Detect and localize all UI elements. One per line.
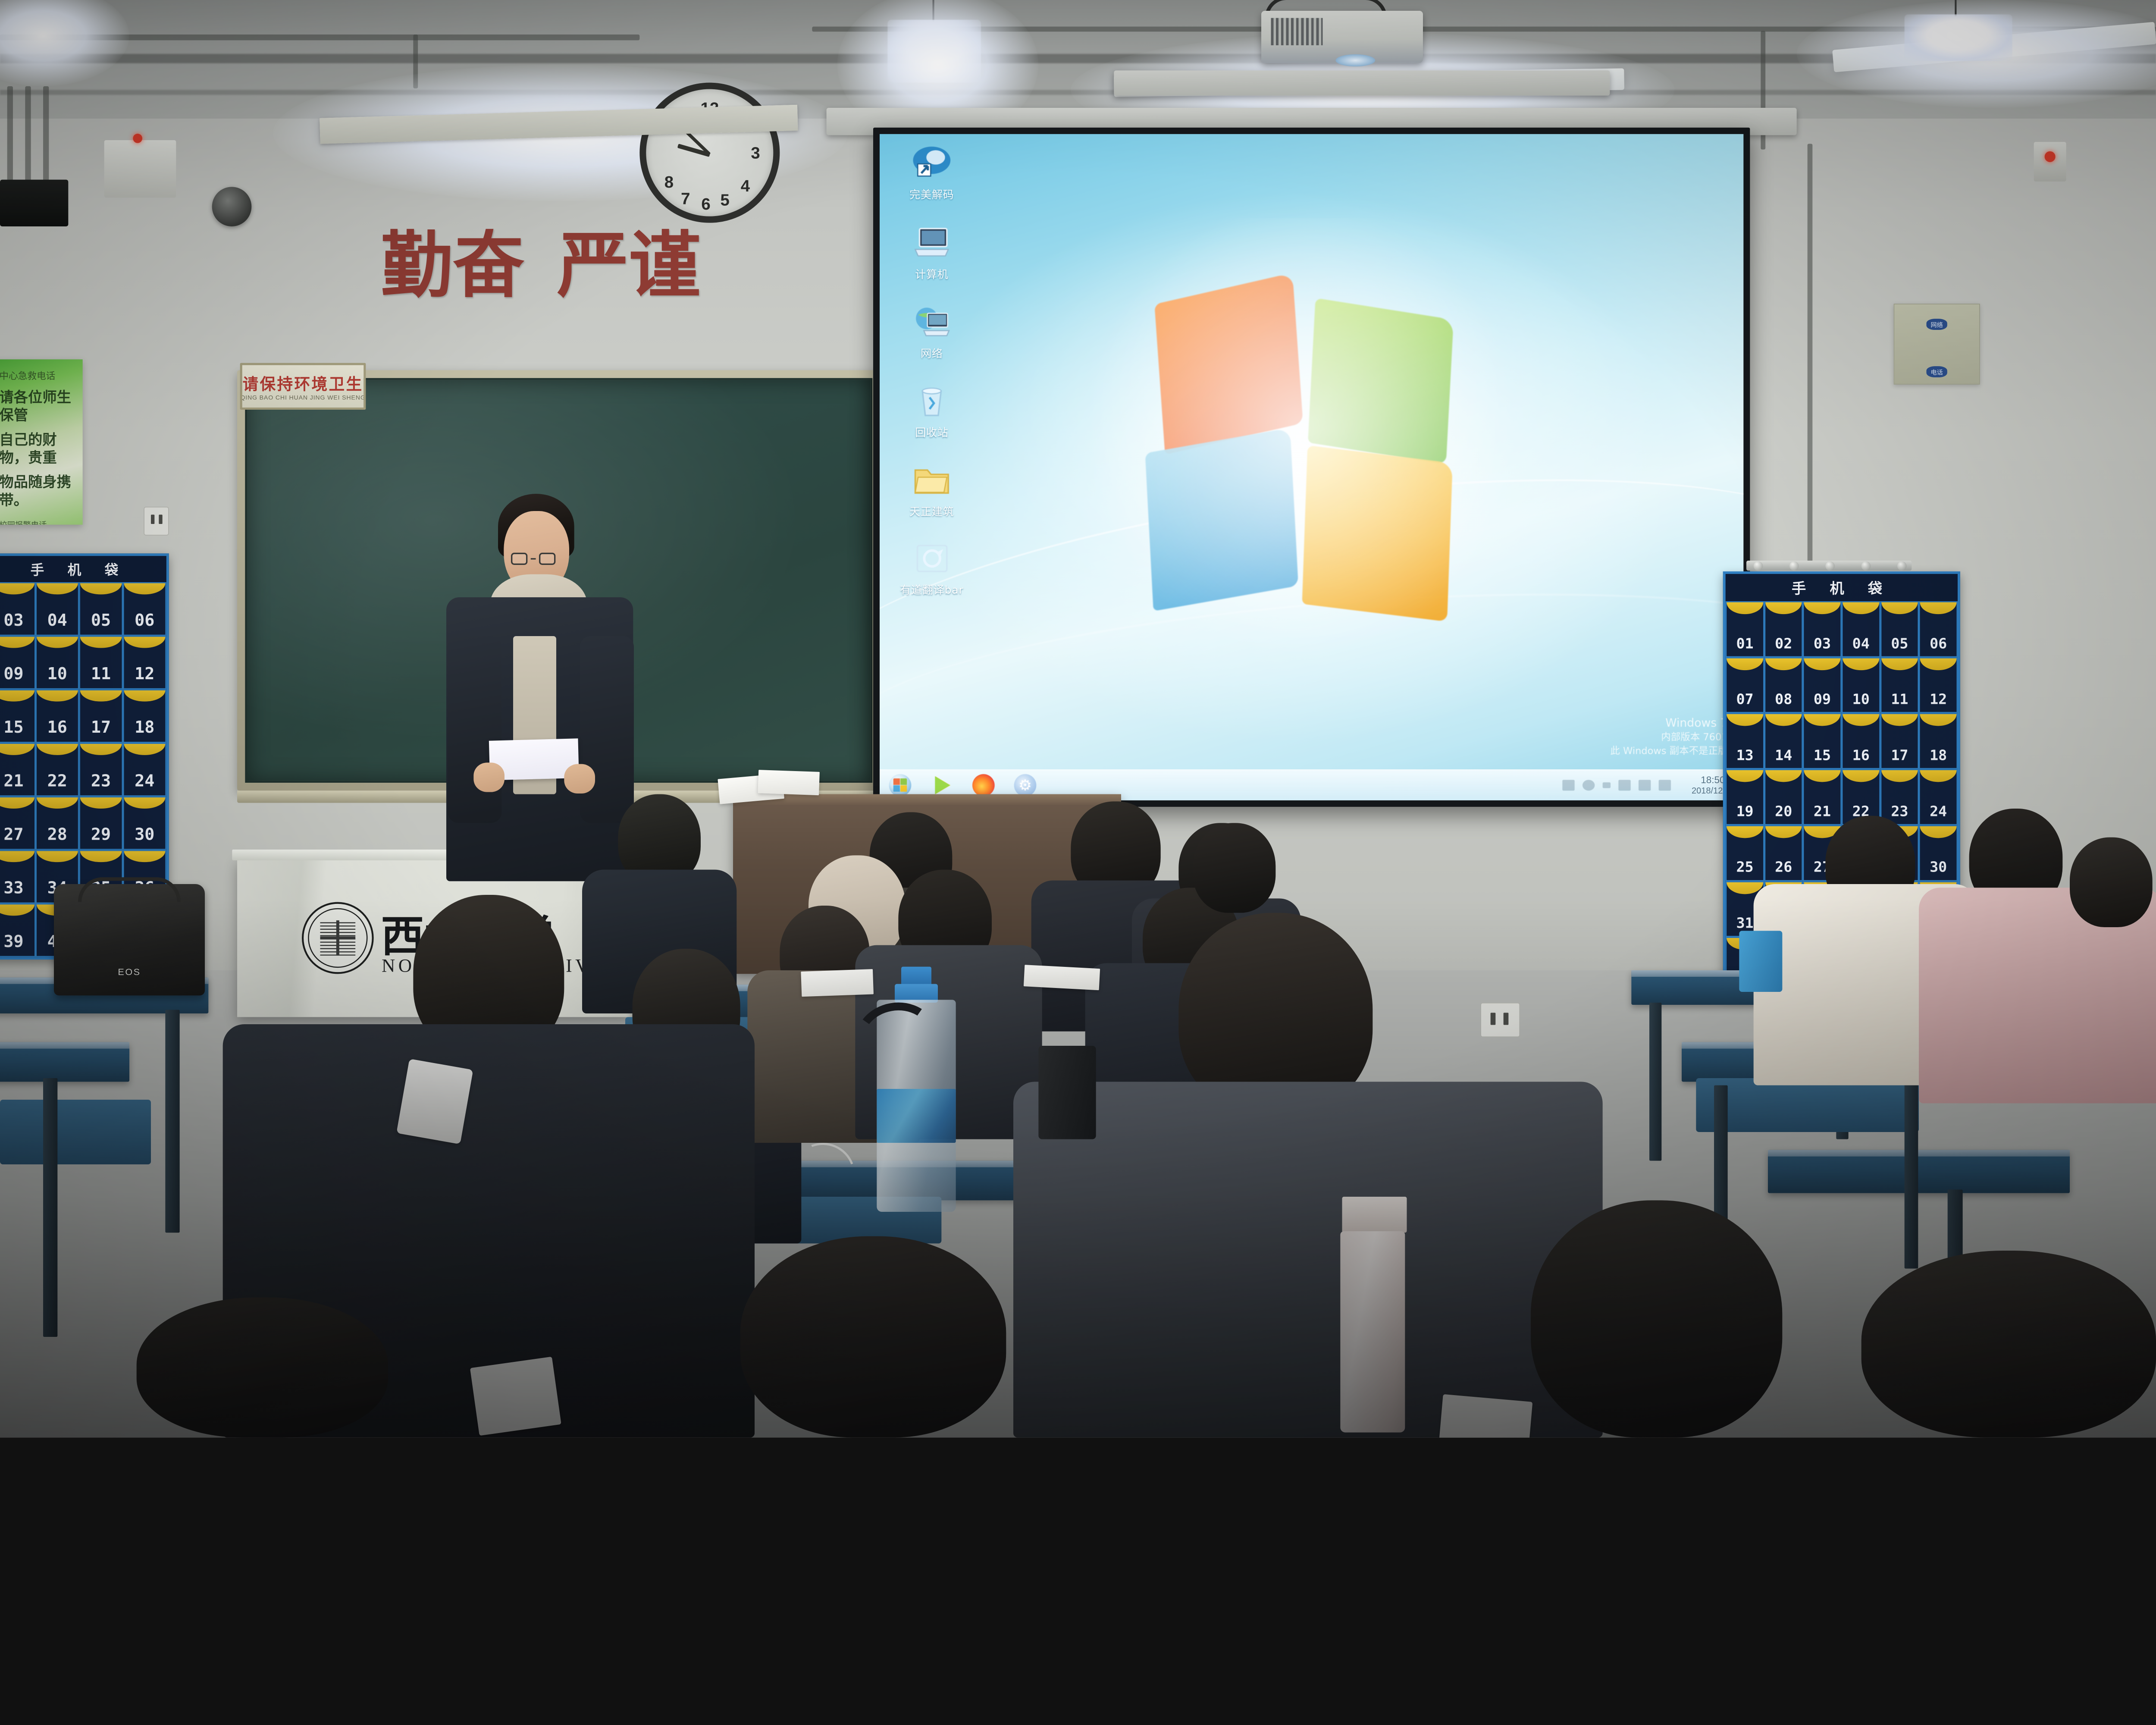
desktop-icon-label: 天正建筑 bbox=[890, 503, 973, 519]
organizer-title-left: 手 机 袋 bbox=[0, 556, 166, 582]
desk-leg bbox=[165, 1010, 179, 1233]
projection-screen: 完美解码 计算机 bbox=[873, 128, 1750, 807]
desk-edge bbox=[0, 1042, 129, 1049]
desk-leg bbox=[1905, 1082, 1918, 1268]
pocket-number: 01 bbox=[1736, 635, 1753, 656]
eyeglasses-icon bbox=[511, 553, 555, 565]
wall-speaker bbox=[212, 187, 252, 226]
phone-pocket[interactable]: 02 bbox=[1764, 601, 1803, 657]
phone-pocket[interactable]: 24 bbox=[123, 743, 166, 797]
phone-pocket[interactable]: 16 bbox=[1842, 713, 1880, 769]
pocket-number: 15 bbox=[3, 717, 23, 742]
watermark-line-3: 此 Windows 副本不是正版 bbox=[1610, 744, 1727, 758]
pocket-number: 04 bbox=[1852, 635, 1870, 656]
pocket-number: 05 bbox=[91, 610, 111, 635]
phone-pocket[interactable]: 17 bbox=[79, 689, 122, 743]
phone-pocket[interactable]: 39 bbox=[0, 903, 35, 957]
pocket-number: 15 bbox=[1814, 747, 1831, 768]
hygiene-sign-chinese: 请保持环境卫生 bbox=[243, 371, 364, 394]
student-desk-empty bbox=[0, 1042, 129, 1082]
desktop-icon-computer[interactable]: 计算机 bbox=[890, 223, 973, 282]
clock-number: 7 bbox=[681, 189, 690, 208]
phone-pocket[interactable]: 29 bbox=[79, 797, 122, 850]
audience-head-foreground bbox=[137, 1297, 388, 1437]
phone-pocket[interactable]: 18 bbox=[1919, 713, 1958, 769]
pocket-number: 12 bbox=[135, 664, 154, 688]
pocket-number: 24 bbox=[1930, 803, 1947, 824]
handout-papers bbox=[801, 969, 874, 997]
rail-screw bbox=[1754, 561, 1763, 571]
thermos-cap bbox=[1342, 1197, 1407, 1233]
clock-number: 8 bbox=[664, 172, 674, 192]
phone-pocket[interactable]: 30 bbox=[1919, 825, 1958, 881]
rail-screw bbox=[1861, 561, 1871, 571]
dark-cup-body bbox=[1038, 1046, 1096, 1139]
audience-head-foreground bbox=[1531, 1200, 1782, 1437]
pocket-row: 09101112 bbox=[0, 636, 166, 689]
phone-pocket[interactable]: 01 bbox=[1726, 601, 1764, 657]
wall-outlet[interactable] bbox=[144, 507, 169, 536]
folder-icon bbox=[911, 461, 953, 500]
phone-pocket[interactable]: 16 bbox=[35, 689, 79, 743]
pocket-number: 16 bbox=[1852, 747, 1870, 768]
pocket-row: 010203040506 bbox=[1726, 601, 1958, 657]
audience-body-foreground bbox=[1013, 1082, 1603, 1437]
desktop-icon-label: 完美解码 bbox=[890, 186, 973, 202]
phone-pocket[interactable]: 09 bbox=[1803, 657, 1842, 713]
cup-body bbox=[1739, 931, 1782, 992]
phone-pocket[interactable]: 15 bbox=[0, 689, 35, 743]
show-hidden-icon[interactable] bbox=[1602, 782, 1610, 788]
phone-pocket[interactable]: 11 bbox=[79, 636, 122, 689]
pocket-number: 06 bbox=[135, 610, 154, 635]
phone-pocket[interactable]: 23 bbox=[79, 743, 122, 797]
clock-number: 4 bbox=[741, 176, 750, 195]
pocket-number: 22 bbox=[47, 771, 67, 796]
organizer-title-right: 手 机 袋 bbox=[1726, 574, 1958, 601]
projector-vent bbox=[1271, 18, 1323, 45]
phone-pocket[interactable]: 12 bbox=[1919, 657, 1958, 713]
network-icon bbox=[911, 302, 953, 342]
start-orb-icon[interactable] bbox=[889, 774, 912, 797]
ceiling-projector bbox=[1261, 11, 1423, 63]
volume-icon[interactable] bbox=[1658, 780, 1670, 790]
phone-pocket[interactable]: 26 bbox=[1764, 825, 1803, 881]
pocket-number: 29 bbox=[91, 825, 111, 849]
phone-pocket[interactable]: 18 bbox=[123, 689, 166, 743]
pocket-number: 09 bbox=[1814, 691, 1831, 712]
handout-papers bbox=[758, 770, 819, 795]
reflective-armband bbox=[396, 1059, 473, 1144]
projection-screen-roller bbox=[1114, 70, 1610, 95]
pocket-number: 12 bbox=[1930, 691, 1947, 712]
classroom-scene: 12 1 3 4 5 6 7 8 11 勤奋 严谨 中心急救电话 请各位师生保管… bbox=[0, 0, 2156, 1437]
bag-strap bbox=[78, 878, 181, 902]
lamp-hanging-wire bbox=[1955, 0, 1956, 16]
wall-conduit-vertical bbox=[413, 34, 418, 88]
pocket-number: 17 bbox=[1891, 747, 1908, 768]
presenter-arm-right bbox=[580, 636, 634, 823]
handout-papers bbox=[1024, 965, 1100, 990]
projector-lens bbox=[1336, 54, 1376, 66]
wall-clock: 12 1 3 4 5 6 7 8 11 bbox=[639, 83, 780, 223]
pocket-number: 02 bbox=[1775, 635, 1792, 656]
keyboard-ime-icon[interactable] bbox=[1562, 780, 1574, 790]
student-desk bbox=[1768, 1150, 2070, 1193]
glasses-bridge bbox=[531, 558, 536, 559]
firefox-icon[interactable] bbox=[972, 774, 995, 797]
seal-emblem bbox=[320, 920, 355, 956]
wall-conduit-vertical bbox=[1808, 144, 1813, 568]
glasses-lens-right bbox=[539, 553, 555, 565]
dark-cup bbox=[1038, 1046, 1096, 1139]
action-center-icon[interactable] bbox=[1639, 780, 1651, 790]
clock-number: 5 bbox=[721, 190, 730, 210]
poster-line-1: 请各位师生保管 bbox=[0, 389, 76, 424]
presenter-arm-left bbox=[448, 636, 501, 823]
pocket-number: 04 bbox=[47, 610, 67, 635]
phone-pocket[interactable]: 27 bbox=[0, 797, 35, 850]
phone-pocket[interactable]: 09 bbox=[0, 636, 35, 689]
pocket-number: 08 bbox=[1775, 691, 1792, 712]
blue-cup bbox=[1739, 931, 1782, 992]
bottle-label bbox=[877, 1089, 956, 1143]
network-icon[interactable] bbox=[1618, 780, 1630, 790]
bag-logo-label: EOS bbox=[118, 966, 141, 978]
tissue-paper bbox=[470, 1357, 561, 1436]
phone-pocket[interactable]: 20 bbox=[1764, 769, 1803, 825]
pocket-number: 21 bbox=[1814, 803, 1831, 824]
pocket-row: 070809101112 bbox=[1726, 657, 1958, 713]
windows-logo-red-pane bbox=[1154, 273, 1303, 455]
windows-logo-blue-pane bbox=[1145, 428, 1298, 612]
pocket-number: 28 bbox=[47, 825, 67, 849]
pocket-number: 03 bbox=[3, 610, 23, 635]
poster-small-note: 校园报警电话 bbox=[0, 519, 76, 525]
media-player-icon bbox=[911, 144, 953, 183]
desktop-icon-label: 计算机 bbox=[890, 266, 973, 282]
electrical-box bbox=[0, 180, 68, 226]
emergency-button-box[interactable] bbox=[2034, 142, 2066, 182]
phone-pocket[interactable]: 10 bbox=[35, 636, 79, 689]
windows-activation-watermark: Windows 7 内部版本 7601 此 Windows 副本不是正版 bbox=[1610, 715, 1727, 758]
phone-pocket[interactable]: 07 bbox=[1726, 657, 1764, 713]
poster-header: 中心急救电话 bbox=[0, 369, 76, 382]
chair-back bbox=[1696, 1078, 1919, 1132]
rail-screw bbox=[1897, 561, 1907, 571]
audience-head-foreground bbox=[740, 1236, 1006, 1438]
rail-screw bbox=[1789, 561, 1799, 571]
ceiling-conduit bbox=[0, 34, 639, 40]
pocket-number: 06 bbox=[1930, 635, 1947, 656]
pocket-number: 17 bbox=[91, 717, 111, 742]
system-tray[interactable]: 18:50 2018/12/11 bbox=[1562, 775, 1743, 796]
camera-bag: EOS bbox=[54, 884, 205, 995]
desktop-icon-label: 有道翻译bar bbox=[890, 581, 973, 597]
pocket-row: 21222324 bbox=[0, 743, 166, 797]
desk-leg bbox=[1649, 1003, 1661, 1161]
rail-screw bbox=[1825, 561, 1835, 571]
pocket-number: 30 bbox=[1930, 859, 1947, 880]
media-play-icon[interactable] bbox=[931, 774, 953, 797]
phone-pocket[interactable]: 24 bbox=[1919, 769, 1958, 825]
windows-logo-green-pane bbox=[1308, 298, 1454, 464]
pocket-number: 07 bbox=[1736, 691, 1753, 712]
desktop-icon-recycle-bin[interactable]: 回收站 bbox=[890, 381, 973, 439]
pocket-row: 27282930 bbox=[0, 797, 166, 850]
hygiene-sign: 请保持环境卫生 QING BAO CHI HUAN JING WEI SHENG bbox=[240, 363, 366, 410]
phone-pocket[interactable]: 03 bbox=[0, 582, 35, 636]
phone-pocket[interactable]: 33 bbox=[0, 850, 35, 903]
pocket-number: 10 bbox=[1852, 691, 1870, 712]
pocket-number: 18 bbox=[1930, 747, 1947, 768]
clock-number: 3 bbox=[751, 143, 760, 163]
pocket-number: 30 bbox=[135, 825, 154, 849]
desktop-icon-label: 回收站 bbox=[890, 424, 973, 440]
pocket-number: 20 bbox=[1775, 803, 1792, 824]
pocket-number: 24 bbox=[135, 771, 154, 796]
safety-poster: 中心急救电话 请各位师生保管 自己的财物，贵重 物品随身携带。 校园报警电话 8… bbox=[0, 359, 83, 524]
wall-motto: 勤奋 严谨 bbox=[381, 230, 701, 302]
university-seal bbox=[302, 902, 374, 974]
phone-pocket[interactable]: 04 bbox=[1842, 601, 1880, 657]
phone-pocket[interactable]: 15 bbox=[1803, 713, 1842, 769]
phone-pocket[interactable]: 23 bbox=[1880, 769, 1919, 825]
pocket-number: 13 bbox=[1736, 747, 1753, 768]
phone-pocket[interactable]: 06 bbox=[1919, 601, 1958, 657]
phone-pocket[interactable]: 22 bbox=[35, 743, 79, 797]
phone-pocket[interactable]: 08 bbox=[1764, 657, 1803, 713]
alarm-led bbox=[133, 134, 142, 143]
pocket-number: 09 bbox=[3, 664, 23, 688]
taskbar-pinned-area bbox=[880, 774, 1036, 797]
clock-number: 6 bbox=[701, 194, 710, 213]
desk-top-edge bbox=[733, 794, 1121, 805]
phone-pocket[interactable]: 21 bbox=[1803, 769, 1842, 825]
desktop-icon-network[interactable]: 网络 bbox=[890, 302, 973, 361]
emergency-led bbox=[2045, 151, 2056, 162]
phone-pocket[interactable]: 13 bbox=[1726, 713, 1764, 769]
wall-service-panel: 网络 电话 bbox=[1894, 304, 1980, 385]
hanging-lamp bbox=[1905, 14, 2012, 61]
pocket-number: 18 bbox=[135, 717, 154, 742]
glasses-lens-left bbox=[511, 553, 527, 565]
desktop-icon-label: 网络 bbox=[890, 345, 973, 361]
pocket-number: 39 bbox=[3, 931, 23, 956]
windows-desktop[interactable]: 完美解码 计算机 bbox=[880, 134, 1743, 800]
motto-char-2: 严谨 bbox=[557, 230, 701, 302]
presenter-hand-right bbox=[564, 764, 595, 793]
panel-label-network: 网络 bbox=[1927, 319, 1947, 330]
lamp-hanging-wire bbox=[933, 0, 934, 22]
pocket-number: 21 bbox=[3, 771, 23, 796]
phone-pocket[interactable]: 05 bbox=[1880, 601, 1919, 657]
fire-alarm-box bbox=[104, 140, 176, 198]
pocket-number: 23 bbox=[1891, 803, 1908, 824]
desk-edge bbox=[1768, 1150, 2070, 1157]
phone-pocket[interactable]: 04 bbox=[35, 582, 79, 636]
chair-back bbox=[0, 1100, 151, 1164]
pocket-number: 11 bbox=[1891, 691, 1908, 712]
thermos-body bbox=[1340, 1231, 1405, 1433]
panel-label-phone: 电话 bbox=[1927, 366, 1947, 377]
poster-line-2: 自己的财物，贵重 bbox=[0, 431, 76, 467]
desk-leg bbox=[43, 1078, 57, 1337]
recycle-bin-icon bbox=[911, 381, 953, 421]
phone-pocket[interactable]: 05 bbox=[79, 582, 122, 636]
pocket-number: 10 bbox=[47, 664, 67, 688]
tissue-paper bbox=[1439, 1394, 1532, 1438]
windows-logo bbox=[1139, 281, 1484, 627]
phone-pocket[interactable]: 25 bbox=[1726, 825, 1764, 881]
pocket-number: 33 bbox=[3, 878, 23, 903]
hygiene-sign-pinyin: QING BAO CHI HUAN JING WEI SHENG bbox=[240, 394, 365, 401]
pocket-number: 11 bbox=[91, 664, 111, 688]
presenter-hand-left bbox=[473, 762, 505, 792]
desktop-icon-folder[interactable]: 天正建筑 bbox=[890, 461, 973, 519]
pocket-number: 14 bbox=[1775, 747, 1792, 768]
thermos-flask bbox=[1329, 1197, 1419, 1437]
desktop-icon-media-player[interactable]: 完美解码 bbox=[890, 144, 973, 202]
pocket-number: 23 bbox=[91, 771, 111, 796]
watermark-line-2: 内部版本 7601 bbox=[1610, 731, 1727, 744]
phone-pocket[interactable]: 28 bbox=[35, 797, 79, 850]
phone-pocket[interactable]: 03 bbox=[1803, 601, 1842, 657]
phone-pocket[interactable]: 30 bbox=[123, 797, 166, 850]
computer-icon bbox=[911, 223, 953, 263]
pocket-number: 16 bbox=[47, 717, 67, 742]
pocket-number: 25 bbox=[1736, 859, 1753, 880]
help-icon[interactable] bbox=[1583, 780, 1595, 790]
pocket-number: 27 bbox=[3, 825, 23, 849]
pocket-number: 19 bbox=[1736, 803, 1753, 824]
pocket-row: 192021222324 bbox=[1726, 769, 1958, 825]
audience-head-foreground bbox=[1861, 1251, 2156, 1437]
phone-pocket[interactable]: 19 bbox=[1726, 769, 1764, 825]
audience-head bbox=[1193, 823, 1276, 913]
pocket-row: 131415161718 bbox=[1726, 713, 1958, 769]
pocket-number: 05 bbox=[1891, 635, 1908, 656]
poster-line-3: 物品随身携带。 bbox=[0, 474, 76, 509]
wall-outlet[interactable] bbox=[1480, 1003, 1520, 1037]
pocket-number: 03 bbox=[1814, 635, 1831, 656]
hanging-lamp bbox=[887, 20, 981, 83]
motto-char-1: 勤奋 bbox=[381, 230, 524, 302]
ceiling-beam bbox=[0, 90, 2156, 95]
watermark-line-1: Windows 7 bbox=[1610, 715, 1727, 731]
phone-pocket[interactable]: 10 bbox=[1842, 657, 1880, 713]
audience-head bbox=[2070, 837, 2153, 927]
pocket-row: 03040506 bbox=[0, 582, 166, 636]
phone-pocket[interactable]: 17 bbox=[1880, 713, 1919, 769]
phone-pocket[interactable]: 11 bbox=[1880, 657, 1919, 713]
pocket-number: 26 bbox=[1775, 859, 1792, 880]
phone-pocket[interactable]: 06 bbox=[123, 582, 166, 636]
phone-pocket[interactable]: 12 bbox=[123, 636, 166, 689]
desktop-icon-translate[interactable]: 有道翻译bar bbox=[890, 539, 973, 597]
pocket-row: 15161718 bbox=[0, 689, 166, 743]
phone-pocket[interactable]: 21 bbox=[0, 743, 35, 797]
phone-pocket[interactable]: 14 bbox=[1764, 713, 1803, 769]
translate-icon bbox=[911, 539, 953, 578]
windows-logo-yellow-pane bbox=[1302, 445, 1452, 622]
gear-icon[interactable] bbox=[1014, 774, 1037, 797]
